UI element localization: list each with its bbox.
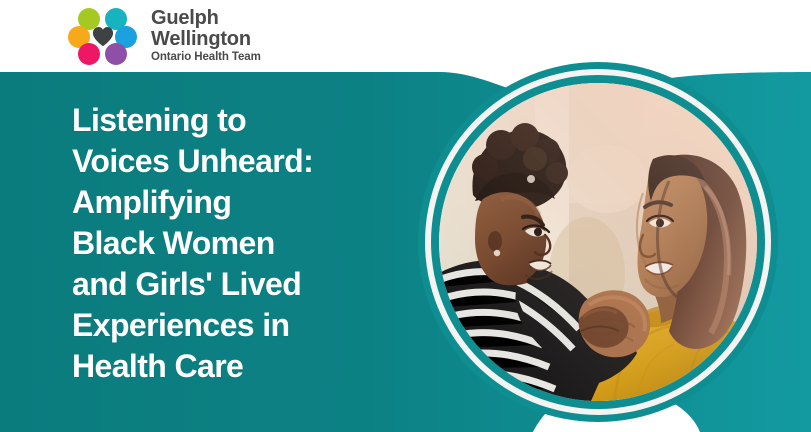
photo-clip xyxy=(439,83,757,401)
banner-page: Guelph Wellington Ontario Health Team Li… xyxy=(0,0,811,432)
logo-mark xyxy=(68,7,140,65)
heart-icon xyxy=(92,26,114,47)
page-title: Listening to Voices Unheard: Amplifying … xyxy=(72,100,402,387)
logo-wordmark-line-3: Ontario Health Team xyxy=(151,52,261,64)
logo-wordmark-line-2: Wellington xyxy=(151,29,261,49)
logo-lockup[interactable]: Guelph Wellington Ontario Health Team xyxy=(68,7,261,65)
logo-wordmark: Guelph Wellington Ontario Health Team xyxy=(151,8,261,64)
mother-and-daughter-holding-hands-photo xyxy=(439,83,757,401)
hero-photo xyxy=(418,62,778,422)
logo-wordmark-line-1: Guelph xyxy=(151,8,261,28)
